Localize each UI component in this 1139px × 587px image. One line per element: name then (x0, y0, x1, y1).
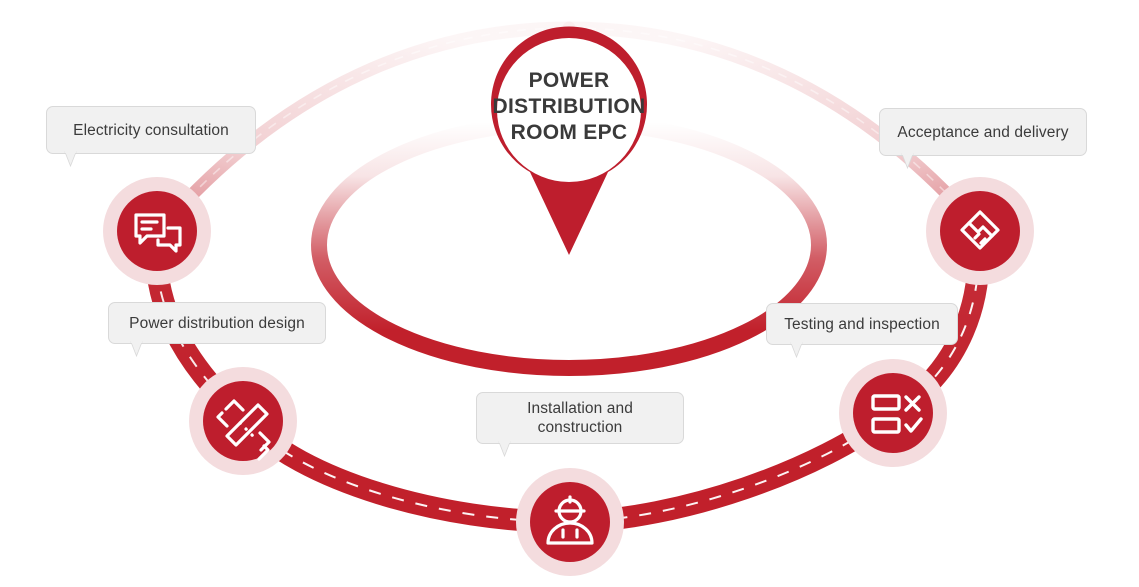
node-step-5[interactable] (940, 191, 1020, 271)
center-pin-line-1: POWER (454, 68, 684, 94)
chip-tail-icon-4 (791, 343, 805, 357)
node-circle-step-1[interactable] (117, 191, 197, 271)
center-pin-label: POWER DISTRIBUTION ROOM EPC (454, 68, 684, 146)
step-label-installation-and-construction[interactable]: Installation and construction (476, 392, 684, 444)
node-step-2[interactable] (203, 381, 283, 461)
step-label-text-1: Electricity consultation (73, 121, 229, 140)
step-label-text-3-line-1: Installation and (527, 399, 633, 418)
step-label-text-5: Acceptance and delivery (897, 123, 1068, 142)
step-label-electricity-consultation[interactable]: Electricity consultation (46, 106, 256, 154)
chip-tail-icon-5 (902, 154, 916, 168)
chip-tail-icon-1 (65, 152, 79, 166)
center-pin-line-2: DISTRIBUTION (454, 94, 684, 120)
node-step-4[interactable] (853, 373, 933, 453)
step-label-text-2: Power distribution design (129, 314, 305, 333)
step-label-text-4: Testing and inspection (784, 315, 940, 334)
step-label-power-distribution-design[interactable]: Power distribution design (108, 302, 326, 344)
node-step-1[interactable] (117, 191, 197, 271)
step-label-text-3-line-2: construction (538, 418, 623, 437)
node-circle-step-4[interactable] (853, 373, 933, 453)
chip-tail-icon-3 (499, 442, 513, 456)
center-pin-line-3: ROOM EPC (454, 120, 684, 146)
chip-tail-icon-2 (131, 342, 145, 356)
step-label-testing-and-inspection[interactable]: Testing and inspection (766, 303, 958, 345)
node-step-3[interactable] (530, 482, 610, 562)
step-label-acceptance-and-delivery[interactable]: Acceptance and delivery (879, 108, 1087, 156)
infographic-canvas: POWER DISTRIBUTION ROOM EPC Electricity … (0, 0, 1139, 587)
